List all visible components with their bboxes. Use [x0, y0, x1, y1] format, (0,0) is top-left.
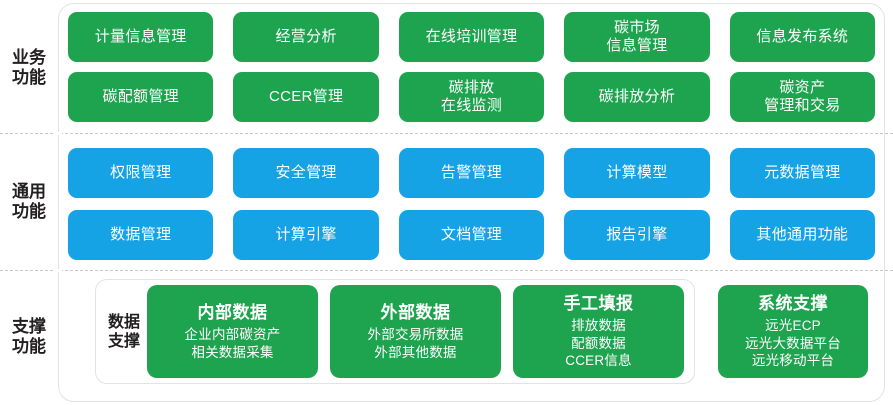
module-chip-label: 信息发布系统 [756, 28, 848, 46]
support-chip-subline: 外部交易所数据 [368, 326, 464, 344]
module-chip-label: 碳配额管理 [102, 88, 179, 106]
support-chip-title: 手工填报 [564, 293, 634, 315]
support-chip-subline: 相关数据采集 [185, 344, 281, 362]
support-chip-title: 内部数据 [198, 302, 268, 324]
module-chip-label: 数据管理 [110, 226, 171, 244]
module-cell: 碳资产管理和交易 [720, 72, 885, 122]
module-chip-label: 碳资产 [779, 79, 825, 97]
module-cell: 计量信息管理 [58, 12, 223, 62]
tier-label-line: 支撑 [12, 317, 46, 337]
tier-label-support-text: 支撑功能 [12, 317, 46, 356]
tier-support: 数据支撑 内部数据企业内部碳资产相关数据采集外部数据外部交易所数据外部其他数据手… [58, 271, 885, 402]
tier-label-support: 支撑功能 [0, 271, 58, 402]
tier-label-line: 数据 [108, 314, 140, 333]
support-chip-subline: 外部其他数据 [368, 344, 464, 362]
architecture-diagram: 业务功能 计量信息管理经营分析在线培训管理碳市场信息管理信息发布系统 碳配额管理… [0, 0, 893, 405]
module-cell: 碳市场信息管理 [554, 12, 719, 62]
module-chip-business-1-2[interactable]: 碳排放在线监测 [399, 72, 544, 122]
module-chip-label: 碳市场 [614, 19, 660, 37]
module-chip-label: 经营分析 [276, 28, 337, 46]
module-chip-label: 元数据管理 [764, 164, 841, 182]
tier-common-row-2: 数据管理计算引擎文档管理报告引擎其他通用功能 [58, 210, 885, 260]
module-chip-label: 碳排放分析 [599, 88, 676, 106]
module-cell: 其他通用功能 [720, 210, 885, 260]
tier-label-business: 业务功能 [0, 3, 58, 133]
tier-label-common-text: 通用功能 [12, 182, 46, 221]
module-chip-label: 告警管理 [441, 164, 502, 182]
support-chip-sublines: 外部交易所数据外部其他数据 [368, 326, 464, 362]
module-cell: 报告引擎 [554, 210, 719, 260]
module-chip-common-0-1[interactable]: 安全管理 [233, 148, 378, 198]
module-chip-business-0-1[interactable]: 经营分析 [233, 12, 378, 62]
tier-label-line: 功能 [12, 202, 46, 222]
module-chip-common-1-3[interactable]: 报告引擎 [564, 210, 709, 260]
support-chip-1[interactable]: 外部数据外部交易所数据外部其他数据 [330, 285, 501, 378]
module-cell: 信息发布系统 [720, 12, 885, 62]
support-chip-subline: 远光移动平台 [745, 352, 841, 370]
tier-label-common: 通用功能 [0, 134, 58, 270]
module-chip-common-1-1[interactable]: 计算引擎 [233, 210, 378, 260]
module-chip-business-1-3[interactable]: 碳排放分析 [564, 72, 709, 122]
module-chip-label: 碳排放 [449, 79, 495, 97]
module-cell: 安全管理 [223, 148, 388, 198]
module-chip-business-0-0[interactable]: 计量信息管理 [68, 12, 213, 62]
module-cell: 数据管理 [58, 210, 223, 260]
support-chip-subline: 配额数据 [565, 335, 631, 353]
tier-common: 权限管理安全管理告警管理计算模型元数据管理 数据管理计算引擎文档管理报告引擎其他… [58, 134, 885, 270]
module-cell: 计算引擎 [223, 210, 388, 260]
support-chip-2[interactable]: 手工填报排放数据配额数据CCER信息 [513, 285, 684, 378]
module-chip-label: 权限管理 [110, 164, 171, 182]
support-chip-sublines: 排放数据配额数据CCER信息 [565, 317, 631, 370]
module-chip-label: CCER管理 [269, 88, 343, 106]
tier-business-row-1: 计量信息管理经营分析在线培训管理碳市场信息管理信息发布系统 [58, 12, 885, 62]
data-support-group-label-text: 数据支撑 [108, 314, 140, 352]
module-chip-business-0-3[interactable]: 碳市场信息管理 [564, 12, 709, 62]
module-chip-common-1-4[interactable]: 其他通用功能 [730, 210, 875, 260]
module-chip-label: 管理和交易 [764, 97, 841, 115]
support-chip-standalone-0[interactable]: 系统支撑远光ECP远光大数据平台远光移动平台 [718, 285, 868, 378]
module-chip-label: 计量信息管理 [95, 28, 187, 46]
tier-label-line: 通用 [12, 182, 46, 202]
tier-label-line: 功能 [12, 337, 46, 357]
module-chip-common-0-3[interactable]: 计算模型 [564, 148, 709, 198]
module-cell: 经营分析 [223, 12, 388, 62]
module-chip-common-0-2[interactable]: 告警管理 [399, 148, 544, 198]
module-chip-label: 计算模型 [606, 164, 667, 182]
tier-label-line: 功能 [12, 68, 46, 88]
tier-label-line: 支撑 [108, 333, 140, 352]
module-chip-label: 安全管理 [276, 164, 337, 182]
module-chip-business-1-1[interactable]: CCER管理 [233, 72, 378, 122]
module-chip-business-0-4[interactable]: 信息发布系统 [730, 12, 875, 62]
module-cell: 碳配额管理 [58, 72, 223, 122]
tier-business-row-2: 碳配额管理CCER管理碳排放在线监测碳排放分析碳资产管理和交易 [58, 72, 885, 122]
support-chip-title: 系统支撑 [758, 293, 828, 315]
module-chip-common-1-0[interactable]: 数据管理 [68, 210, 213, 260]
module-cell: 权限管理 [58, 148, 223, 198]
tier-label-business-text: 业务功能 [12, 48, 46, 87]
module-cell: 在线培训管理 [389, 12, 554, 62]
module-chip-business-0-2[interactable]: 在线培训管理 [399, 12, 544, 62]
support-chip-subline: 排放数据 [565, 317, 631, 335]
module-chip-label: 报告引擎 [606, 226, 667, 244]
tier-common-row-1: 权限管理安全管理告警管理计算模型元数据管理 [58, 148, 885, 198]
module-chip-label: 信息管理 [606, 37, 667, 55]
support-chip-subline: CCER信息 [565, 352, 631, 370]
tier-business: 计量信息管理经营分析在线培训管理碳市场信息管理信息发布系统 碳配额管理CCER管… [58, 3, 885, 133]
module-chip-label: 文档管理 [441, 226, 502, 244]
support-chip-sublines: 企业内部碳资产相关数据采集 [185, 326, 281, 362]
module-cell: 碳排放分析 [554, 72, 719, 122]
module-cell: 计算模型 [554, 148, 719, 198]
support-chip-title: 外部数据 [381, 302, 451, 324]
module-cell: 告警管理 [389, 148, 554, 198]
module-chip-label: 计算引擎 [276, 226, 337, 244]
tier-label-line: 业务 [12, 48, 46, 68]
support-chip-subline: 远光ECP [745, 317, 841, 335]
module-cell: 碳排放在线监测 [389, 72, 554, 122]
module-cell: CCER管理 [223, 72, 388, 122]
support-chip-sublines: 远光ECP远光大数据平台远光移动平台 [745, 317, 841, 370]
module-chip-common-0-4[interactable]: 元数据管理 [730, 148, 875, 198]
module-cell: 文档管理 [389, 210, 554, 260]
module-cell: 元数据管理 [720, 148, 885, 198]
module-chip-business-1-0[interactable]: 碳配额管理 [68, 72, 213, 122]
module-chip-label: 在线培训管理 [426, 28, 518, 46]
support-chip-0[interactable]: 内部数据企业内部碳资产相关数据采集 [147, 285, 318, 378]
module-chip-business-1-4[interactable]: 碳资产管理和交易 [730, 72, 875, 122]
support-chip-subline: 远光大数据平台 [745, 335, 841, 353]
module-chip-common-0-0[interactable]: 权限管理 [68, 148, 213, 198]
module-chip-label: 其他通用功能 [756, 226, 848, 244]
module-chip-common-1-2[interactable]: 文档管理 [399, 210, 544, 260]
data-support-group-label: 数据支撑 [106, 280, 142, 385]
module-chip-label: 在线监测 [441, 97, 502, 115]
support-chip-subline: 企业内部碳资产 [185, 326, 281, 344]
